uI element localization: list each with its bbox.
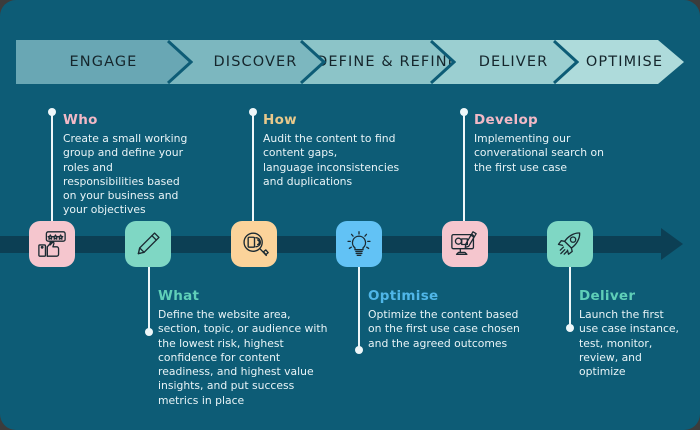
connector-dot-how: [249, 108, 257, 116]
step-body-develop: Implementing our converational search on…: [474, 132, 669, 175]
step-body-deliver: Launch the first use case instance, test…: [579, 308, 689, 379]
design-monitor-icon[interactable]: [442, 221, 488, 267]
lightbulb-icon[interactable]: [336, 221, 382, 267]
process-phase-banner: ENGAGE DISCOVER DEFINE & REFINE DELIVER …: [16, 40, 684, 84]
phase-label-define-refine: DEFINE & REFINE: [316, 54, 458, 70]
connector-dot-develop: [460, 108, 468, 116]
connector-line-how: [252, 112, 254, 224]
step-block-how: How Audit the content to find content ga…: [263, 112, 453, 189]
step-block-deliver: Deliver Launch the first use case instan…: [579, 288, 689, 379]
step-title-who: Who: [63, 112, 243, 128]
infographic-canvas: ENGAGE DISCOVER DEFINE & REFINE DELIVER …: [0, 0, 700, 430]
step-block-optimise: Optimise Optimize the content based on t…: [368, 288, 568, 351]
rating-thumbs-up-icon[interactable]: [29, 221, 75, 267]
step-body-optimise: Optimize the content based on the first …: [368, 308, 568, 351]
connector-line-what: [148, 264, 150, 332]
connector-line-develop: [463, 112, 465, 224]
pencil-icon[interactable]: [125, 221, 171, 267]
phase-chevron-engage[interactable]: ENGAGE: [16, 40, 191, 84]
step-block-develop: Develop Implementing our converational s…: [474, 112, 669, 175]
phase-label-optimise: OPTIMISE: [586, 54, 663, 70]
step-body-what: Define the website area, section, topic,…: [158, 308, 358, 408]
timeline-arrowhead-icon: [661, 228, 683, 260]
step-block-who: Who Create a small working group and def…: [63, 112, 243, 218]
phase-chevron-discover[interactable]: DISCOVER: [169, 40, 324, 84]
step-title-optimise: Optimise: [368, 288, 568, 304]
connector-line-deliver: [569, 264, 571, 328]
phase-label-discover: DISCOVER: [214, 54, 298, 70]
phase-label-deliver: DELIVER: [479, 54, 549, 70]
step-body-who: Create a small working group and define …: [63, 132, 243, 218]
step-title-how: How: [263, 112, 453, 128]
connector-line-optimise: [358, 264, 360, 350]
connector-dot-what: [145, 328, 153, 336]
phase-label-engage: ENGAGE: [70, 54, 138, 70]
document-search-icon[interactable]: [231, 221, 277, 267]
connector-dot-who: [48, 108, 56, 116]
step-title-develop: Develop: [474, 112, 669, 128]
step-title-what: What: [158, 288, 358, 304]
phase-chevron-define-refine[interactable]: DEFINE & REFINE: [302, 40, 454, 84]
step-title-deliver: Deliver: [579, 288, 689, 304]
connector-line-who: [51, 112, 53, 224]
rocket-icon[interactable]: [547, 221, 593, 267]
step-body-how: Audit the content to find content gaps, …: [263, 132, 453, 189]
step-block-what: What Define the website area, section, t…: [158, 288, 358, 408]
